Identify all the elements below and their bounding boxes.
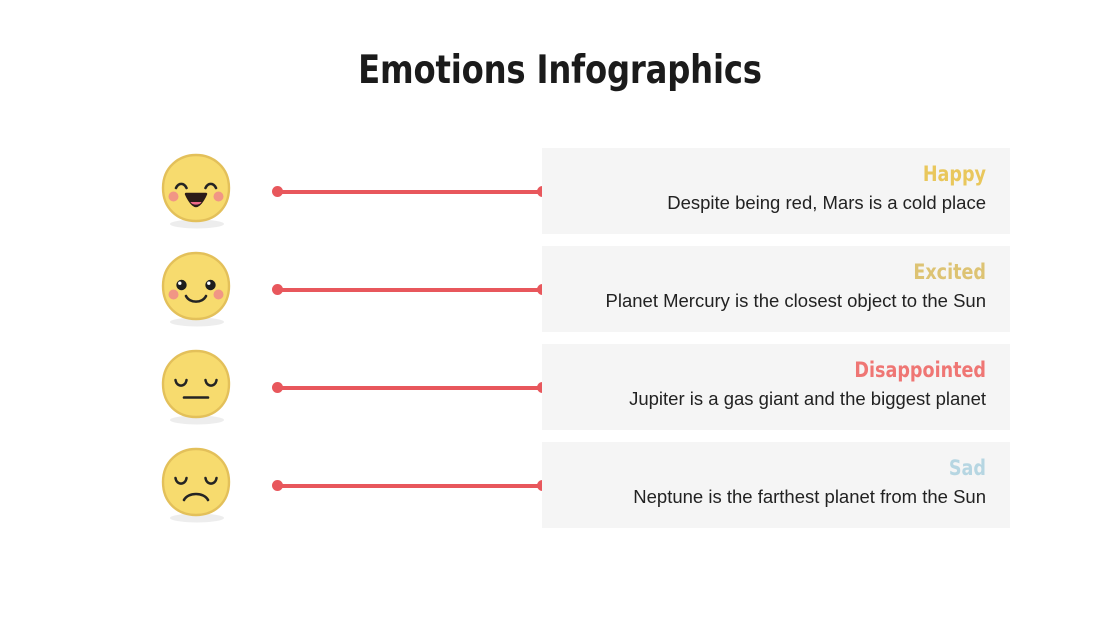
connector-line	[272, 382, 548, 394]
emotion-description: Despite being red, Mars is a cold place	[566, 189, 986, 217]
connector-stroke	[277, 386, 543, 390]
connector-line	[272, 480, 548, 492]
connector-stroke	[277, 484, 543, 488]
emotion-rows-list: Happy Despite being red, Mars is a cold …	[0, 148, 1120, 540]
connector-stroke	[277, 288, 543, 292]
slide-canvas: Emotions Infographics	[0, 0, 1120, 630]
content-box: Happy Despite being red, Mars is a cold …	[542, 148, 1010, 234]
emotion-label: Happy	[595, 162, 986, 187]
list-item: Sad Neptune is the farthest planet from …	[0, 442, 1120, 528]
emotion-description: Planet Mercury is the closest object to …	[566, 287, 986, 315]
emotion-description: Jupiter is a gas giant and the biggest p…	[566, 385, 986, 413]
emotion-label: Disappointed	[595, 358, 986, 383]
content-box: Disappointed Jupiter is a gas giant and …	[542, 344, 1010, 430]
happy-face-icon	[155, 150, 237, 232]
content-box: Excited Planet Mercury is the closest ob…	[542, 246, 1010, 332]
connector-line	[272, 186, 548, 198]
emotion-label: Sad	[595, 456, 986, 481]
emotion-description: Neptune is the farthest planet from the …	[566, 483, 986, 511]
list-item: Happy Despite being red, Mars is a cold …	[0, 148, 1120, 234]
emotion-label: Excited	[595, 260, 986, 285]
page-title: Emotions Infographics	[45, 48, 1075, 93]
excited-face-icon	[155, 248, 237, 330]
sad-face-icon	[155, 444, 237, 526]
connector-line	[272, 284, 548, 296]
disappointed-face-icon	[155, 346, 237, 428]
content-box: Sad Neptune is the farthest planet from …	[542, 442, 1010, 528]
connector-stroke	[277, 190, 543, 194]
list-item: Excited Planet Mercury is the closest ob…	[0, 246, 1120, 332]
list-item: Disappointed Jupiter is a gas giant and …	[0, 344, 1120, 430]
